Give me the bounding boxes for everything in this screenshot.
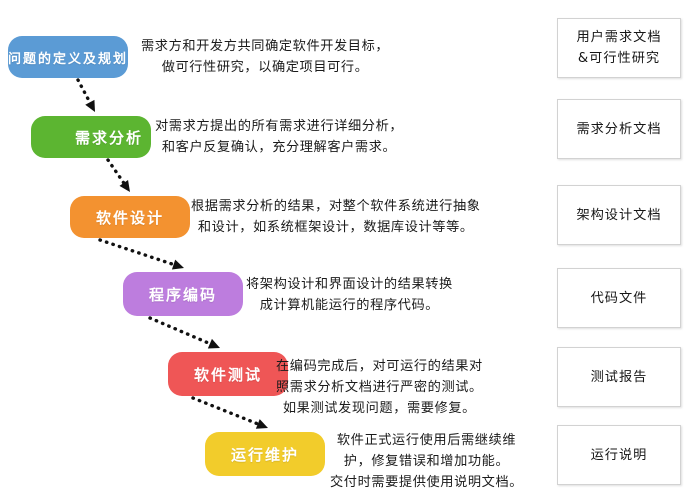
stage-box-5[interactable]: 软件测试 [168, 352, 288, 396]
software-development-lifecycle-diagram: 问题的定义及规划需求分析软件设计程序编码软件测试运行维护 需求方和开发方共同确定… [0, 0, 691, 500]
stage-description-3: 根据需求分析的结果，对整个软件系统进行抽象和设计，如系统框架设计，数据库设计等等… [191, 196, 481, 238]
document-label-line: 代码文件 [591, 288, 648, 309]
description-line: 和客户反复确认，充分理解客户需求。 [155, 137, 403, 158]
description-line: 根据需求分析的结果，对整个软件系统进行抽象 [191, 196, 481, 217]
stage-description-1: 需求方和开发方共同确定软件开发目标，做可行性研究，以确定项目可行。 [141, 36, 389, 78]
connector-arrow-2 [108, 160, 130, 192]
document-label-line: 用户需求文档 [576, 27, 661, 48]
description-line: 将架构设计和界面设计的结果转换 [246, 274, 453, 295]
stage-box-4[interactable]: 程序编码 [123, 272, 243, 316]
description-line: 在编码完成后，对可运行的结果对 [276, 356, 483, 377]
description-line: 护，修复错误和增加功能。 [330, 451, 523, 472]
stage-description-2: 对需求方提出的所有需求进行详细分析，和客户反复确认，充分理解客户需求。 [155, 116, 403, 158]
description-line: 如果测试发现问题，需要修复。 [276, 398, 483, 419]
connector-arrow-1 [78, 80, 95, 112]
connector-arrow-5 [193, 398, 268, 429]
document-box-3[interactable]: 架构设计文档 [557, 185, 681, 245]
stage-label: 软件测试 [194, 364, 262, 385]
stage-box-2[interactable]: 需求分析 [31, 116, 151, 158]
stage-label: 程序编码 [149, 284, 217, 305]
document-box-6[interactable]: 运行说明 [557, 425, 681, 485]
document-label-line: 运行说明 [591, 445, 648, 466]
connector-arrow-3 [100, 240, 184, 269]
stage-description-6: 软件正式运行使用后需继续维护，修复错误和增加功能。交付时需要提供使用说明文档。 [330, 430, 523, 493]
document-box-5[interactable]: 测试报告 [557, 347, 681, 407]
description-line: 照需求分析文档进行严密的测试。 [276, 377, 483, 398]
document-box-4[interactable]: 代码文件 [557, 268, 681, 328]
stage-label: 运行维护 [231, 444, 299, 465]
description-line: 对需求方提出的所有需求进行详细分析， [155, 116, 403, 137]
stage-description-5: 在编码完成后，对可运行的结果对照需求分析文档进行严密的测试。如果测试发现问题，需… [276, 356, 483, 419]
stage-box-3[interactable]: 软件设计 [70, 196, 190, 238]
description-line: 需求方和开发方共同确定软件开发目标， [141, 36, 389, 57]
description-line: 做可行性研究，以确定项目可行。 [141, 57, 389, 78]
description-line: 成计算机能运行的程序代码。 [246, 295, 453, 316]
document-box-1[interactable]: 用户需求文档&可行性研究 [557, 18, 681, 78]
stage-label: 问题的定义及规划 [8, 48, 128, 67]
stage-description-4: 将架构设计和界面设计的结果转换成计算机能运行的程序代码。 [246, 274, 453, 316]
document-label-line: 架构设计文档 [576, 205, 661, 226]
description-line: 和设计，如系统框架设计，数据库设计等等。 [191, 217, 481, 238]
document-label-line: &可行性研究 [578, 48, 660, 69]
connector-arrow-4 [150, 318, 220, 348]
document-box-2[interactable]: 需求分析文档 [557, 99, 681, 159]
stage-box-1[interactable]: 问题的定义及规划 [8, 36, 128, 78]
stage-label: 需求分析 [75, 127, 143, 148]
stage-box-6[interactable]: 运行维护 [205, 432, 325, 476]
stage-label: 软件设计 [96, 207, 164, 228]
description-line: 软件正式运行使用后需继续维 [330, 430, 523, 451]
document-label-line: 需求分析文档 [576, 119, 661, 140]
document-label-line: 测试报告 [591, 367, 648, 388]
description-line: 交付时需要提供使用说明文档。 [330, 472, 523, 493]
